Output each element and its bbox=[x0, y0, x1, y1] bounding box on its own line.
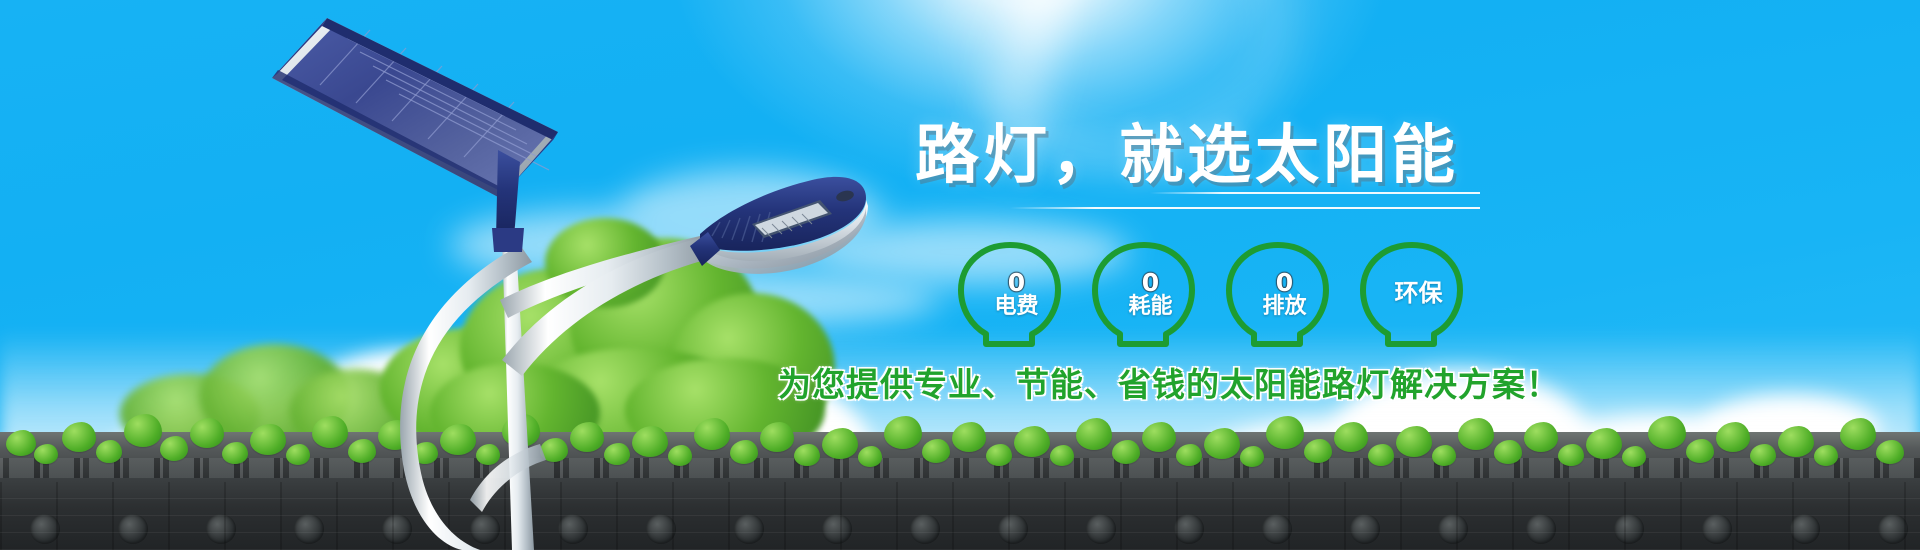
divider-line-bottom bbox=[1010, 207, 1480, 209]
solar-street-light-banner: 路灯，就选太阳能 0 电费 0 耗能 bbox=[0, 0, 1920, 550]
page-subtitle: 为您提供专业、节能、省钱的太阳能路灯解决方案！ bbox=[778, 358, 1560, 406]
badge-zero-emission: 0 排放 bbox=[1220, 238, 1335, 350]
badge-label: 耗能 bbox=[1128, 296, 1172, 319]
badge-zero-electricity-cost: 0 电费 bbox=[952, 238, 1067, 350]
badge-label: 电费 bbox=[994, 296, 1038, 319]
badge-zero-value: 0 bbox=[1008, 270, 1025, 295]
badge-zero-energy-use: 0 耗能 bbox=[1086, 238, 1201, 350]
badge-eco-friendly: 环保 bbox=[1354, 238, 1469, 350]
badge-label: 排放 bbox=[1262, 296, 1306, 319]
divider-line-top bbox=[1150, 192, 1480, 194]
badge-zero-value: 0 bbox=[1142, 270, 1159, 295]
feature-badge-list: 0 电费 0 耗能 0 排放 bbox=[952, 238, 1472, 350]
badge-zero-value: 0 bbox=[1276, 270, 1293, 295]
page-title: 路灯，就选太阳能 bbox=[915, 104, 1459, 196]
wall-tile-ends bbox=[0, 510, 1920, 544]
badge-label: 环保 bbox=[1395, 281, 1443, 306]
